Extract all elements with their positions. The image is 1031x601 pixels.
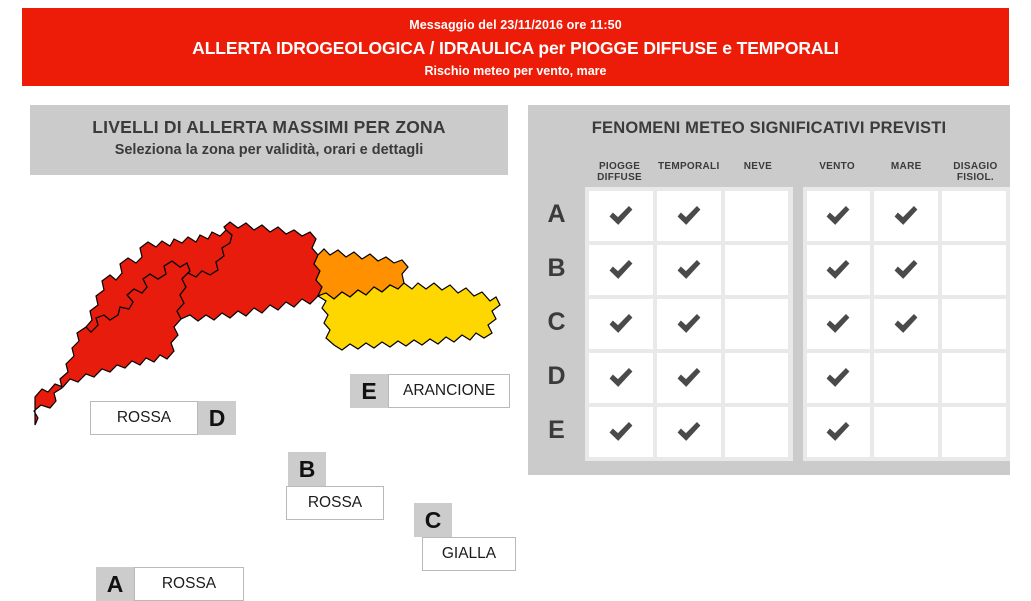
map-callout-zone-e[interactable]: E ARANCIONE [350,374,510,408]
check-mark-icon [892,202,920,230]
zone-level-e: ARANCIONE [388,374,510,408]
column-header-piogge-diffuse: PIOGGE DIFFUSE [585,161,654,187]
zone-level-c: GIALLA [422,537,516,571]
column-header-mare: MARE [872,161,941,187]
phenomena-row-e [807,407,1007,457]
phenomena-row-b [807,245,1007,295]
phenomena-cell-c-disagio-fisiol[interactable] [942,299,1006,349]
column-header-disagio-fisiol: DISAGIO FISIOL. [941,161,1010,187]
row-label-d: D [528,349,585,403]
phenomena-grid-group-1 [585,187,793,461]
phenomena-cell-c-neve[interactable] [725,299,789,349]
map-callout-zone-a[interactable]: A ROSSA [96,567,244,601]
phenomena-panel-title: FENOMENI METEO SIGNIFICATIVI PREVISTI [528,105,1010,138]
phenomena-cell-d-vento[interactable] [807,353,871,403]
left-panel-header: LIVELLI DI ALLERTA MASSIMI PER ZONA Sele… [30,105,508,175]
banner-message-line: Messaggio del 23/11/2016 ore 11:50 [22,17,1009,34]
left-panel-title: LIVELLI DI ALLERTA MASSIMI PER ZONA [30,115,508,139]
check-mark-icon [824,310,852,338]
phenomena-row-a [807,191,1007,241]
phenomena-cell-a-mare[interactable] [874,191,938,241]
phenomena-cell-c-piogge-diffuse[interactable] [589,299,653,349]
row-label-c: C [528,295,585,349]
phenomena-cell-b-vento[interactable] [807,245,871,295]
phenomena-cell-d-disagio-fisiol[interactable] [942,353,1006,403]
phenomena-matrix: PIOGGE DIFFUSE TEMPORALI NEVE VENTO MARE… [528,149,1010,461]
check-mark-icon [607,364,635,392]
check-mark-icon [675,418,703,446]
phenomena-column-headers: PIOGGE DIFFUSE TEMPORALI NEVE VENTO MARE… [528,149,1010,187]
phenomena-row-b [589,245,789,295]
phenomena-cell-b-piogge-diffuse[interactable] [589,245,653,295]
phenomena-cell-b-mare[interactable] [874,245,938,295]
phenomena-cell-e-disagio-fisiol[interactable] [942,407,1006,457]
phenomena-cell-a-vento[interactable] [807,191,871,241]
zone-level-a: ROSSA [134,567,244,601]
banner-subtitle: Rischio meteo per vento, mare [22,63,1009,80]
zone-level-b: ROSSA [286,486,384,520]
check-mark-icon [824,256,852,284]
column-header-group-1: PIOGGE DIFFUSE TEMPORALI NEVE [585,161,793,187]
row-label-a: A [528,187,585,241]
liguria-alert-map[interactable]: A ROSSA ROSSA D B ROSSA C GIALLA E ARANC… [30,175,508,475]
phenomena-cell-a-piogge-diffuse[interactable] [589,191,653,241]
grid-group-divider [793,187,803,461]
phenomena-cell-e-vento[interactable] [807,407,871,457]
phenomena-row-d [807,353,1007,403]
zone-row-labels: A B C D E [528,187,585,461]
phenomena-row-c [589,299,789,349]
phenomena-panel: FENOMENI METEO SIGNIFICATIVI PREVISTI PI… [528,105,1010,475]
phenomena-cell-c-mare[interactable] [874,299,938,349]
phenomena-cell-e-piogge-diffuse[interactable] [589,407,653,457]
phenomena-cell-d-mare[interactable] [874,353,938,403]
column-header-neve: NEVE [723,161,792,187]
check-mark-icon [607,310,635,338]
zone-letter-e: E [350,374,388,408]
map-callout-zone-c[interactable]: C GIALLA [414,503,516,571]
map-callout-zone-d[interactable]: ROSSA D [90,401,236,435]
phenomena-cell-c-temporali[interactable] [657,299,721,349]
check-mark-icon [675,364,703,392]
phenomena-cell-d-neve[interactable] [725,353,789,403]
column-header-group-2: VENTO MARE DISAGIO FISIOL. [803,161,1011,187]
phenomena-cell-e-temporali[interactable] [657,407,721,457]
phenomena-cell-a-disagio-fisiol[interactable] [942,191,1006,241]
phenomena-cell-c-vento[interactable] [807,299,871,349]
check-mark-icon [824,418,852,446]
alert-banner: Messaggio del 23/11/2016 ore 11:50 ALLER… [22,8,1009,86]
row-label-e: E [528,403,585,457]
check-mark-icon [607,202,635,230]
phenomena-cell-a-neve[interactable] [725,191,789,241]
phenomena-row-e [589,407,789,457]
phenomena-row-a [589,191,789,241]
check-mark-icon [892,310,920,338]
zone-letter-d: D [198,401,236,435]
phenomena-row-d [589,353,789,403]
phenomena-cell-e-neve[interactable] [725,407,789,457]
phenomena-grid-group-2 [803,187,1011,461]
phenomena-grid-body: A B C D E [528,187,1010,461]
banner-title: ALLERTA IDROGEOLOGICA / IDRAULICA per PI… [22,34,1009,63]
column-header-vento: VENTO [803,161,872,187]
check-mark-icon [824,202,852,230]
phenomena-cell-e-mare[interactable] [874,407,938,457]
check-mark-icon [607,256,635,284]
phenomena-row-c [807,299,1007,349]
check-mark-icon [607,418,635,446]
zone-letter-a: A [96,567,134,601]
zone-level-d: ROSSA [90,401,198,435]
check-mark-icon [892,256,920,284]
phenomena-cell-b-neve[interactable] [725,245,789,295]
zone-letter-b: B [288,452,326,486]
column-header-temporali: TEMPORALI [654,161,723,187]
check-mark-icon [675,310,703,338]
check-mark-icon [824,364,852,392]
check-mark-icon [675,256,703,284]
zone-letter-c: C [414,503,452,537]
map-callout-zone-b[interactable]: B ROSSA [288,452,384,520]
phenomena-cell-d-piogge-diffuse[interactable] [589,353,653,403]
check-mark-icon [675,202,703,230]
phenomena-cell-d-temporali[interactable] [657,353,721,403]
row-label-b: B [528,241,585,295]
left-panel-subtitle: Seleziona la zona per validità, orari e … [30,139,508,161]
phenomena-cell-b-disagio-fisiol[interactable] [942,245,1006,295]
phenomena-cell-b-temporali[interactable] [657,245,721,295]
phenomena-cell-a-temporali[interactable] [657,191,721,241]
